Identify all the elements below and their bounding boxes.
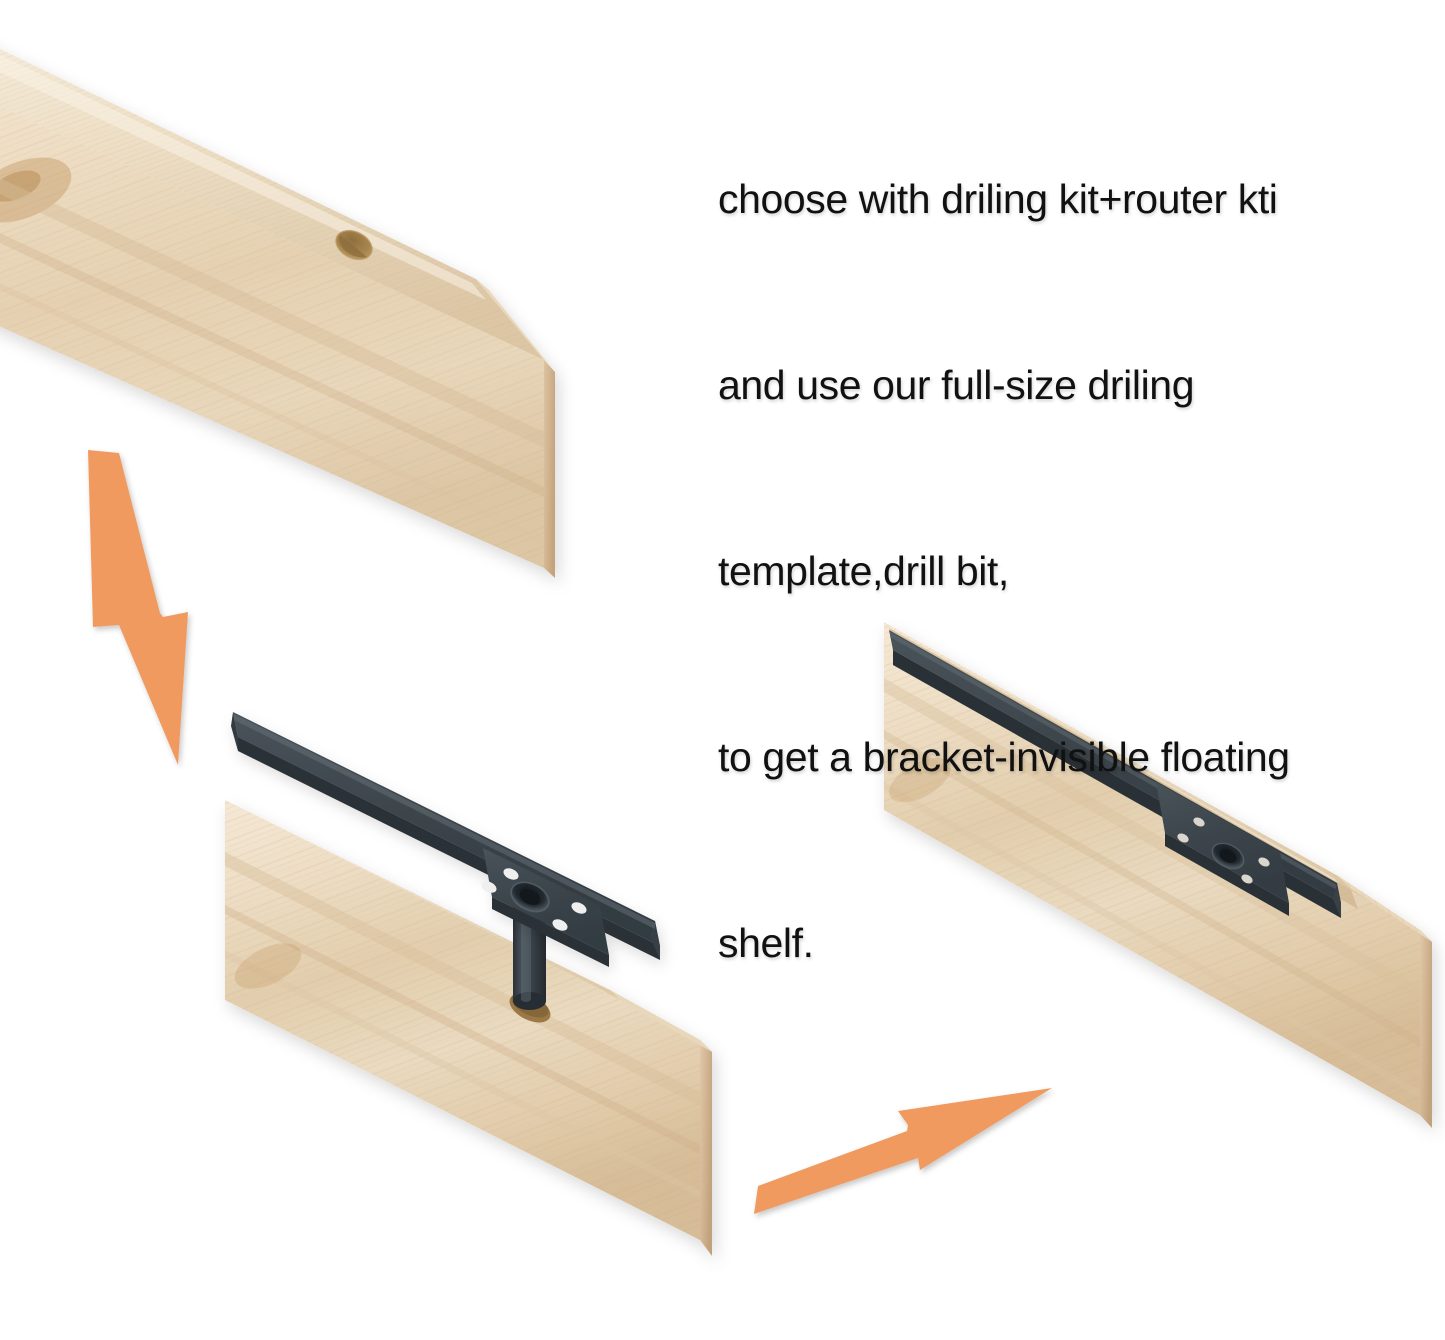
caption-line-1: choose with driling kit+router kti <box>718 168 1418 230</box>
caption-line-5: shelf. <box>718 912 1418 974</box>
board1-end-grain <box>544 360 555 578</box>
instruction-caption: choose with driling kit+router kti and u… <box>718 44 1418 1098</box>
caption-line-2: and use our full-size driling <box>718 354 1418 416</box>
arrow-down-shape <box>88 450 188 765</box>
product-instruction-image: choose with driling kit+router kti and u… <box>0 0 1445 1340</box>
board2-end-grain <box>700 1040 712 1256</box>
board2-front-grain <box>225 800 700 1240</box>
caption-line-3: template,drill bit, <box>718 540 1418 602</box>
step-1-drilled-board <box>0 20 555 578</box>
caption-line-4: to get a bracket-invisible floating <box>718 726 1418 788</box>
step-2-board <box>225 800 712 1256</box>
arrow-up-right <box>754 1088 1052 1214</box>
arrow-up-right-shape <box>754 1088 1052 1214</box>
arrow-down <box>88 450 188 765</box>
board3-end-grain <box>1420 930 1432 1128</box>
